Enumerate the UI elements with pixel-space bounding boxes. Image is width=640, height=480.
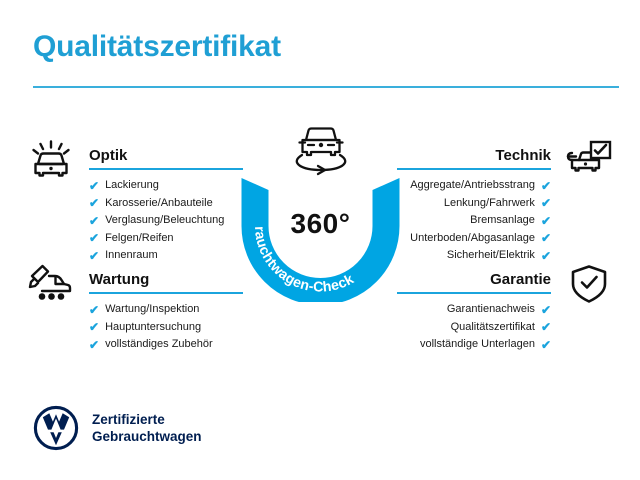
- list-item-label: Innenraum: [105, 247, 158, 265]
- check-icon: ✔: [89, 180, 99, 192]
- list-item-label: Unterboden/Abgasanlage: [410, 230, 535, 248]
- header-divider: [33, 86, 619, 88]
- section-technik-title: Technik: [495, 147, 551, 164]
- list-item-label: Felgen/Reifen: [105, 230, 174, 248]
- check-icon: ✔: [89, 215, 99, 227]
- check-icon: ✔: [541, 197, 551, 209]
- check-icon: ✔: [541, 321, 551, 333]
- check-icon: ✔: [89, 304, 99, 316]
- list-item-label: Qualitätszertifikat: [451, 319, 535, 337]
- section-optik: Optik ✔Lackierung ✔Karosserie/Anbauteile…: [25, 140, 243, 265]
- section-technik-header: Technik: [397, 140, 615, 170]
- section-optik-header: Optik: [25, 140, 243, 170]
- list-item-label: Garantienachweis: [447, 301, 535, 319]
- section-garantie-header: Garantie: [397, 264, 615, 294]
- section-optik-title: Optik: [89, 147, 127, 164]
- list-item: Bremsanlage✔: [397, 212, 615, 230]
- check-icon: ✔: [89, 197, 99, 209]
- section-garantie-list: Garantienachweis✔ Qualitätszertifikat✔ v…: [397, 301, 615, 354]
- list-item: ✔Felgen/Reifen: [25, 230, 243, 248]
- list-item-label: Verglasung/Beleuchtung: [105, 212, 224, 230]
- section-garantie-divider: [397, 292, 551, 294]
- list-item-label: Karosserie/Anbauteile: [105, 195, 213, 213]
- logo-text-line-1: Zertifizierte: [92, 411, 202, 428]
- check-icon: ✔: [541, 232, 551, 244]
- section-optik-divider: [89, 168, 243, 170]
- list-item-label: Wartung/Inspektion: [105, 301, 199, 319]
- check-icon: ✔: [541, 180, 551, 192]
- volkswagen-logo-lockup: Zertifizierte Gebrauchtwagen: [33, 405, 202, 451]
- section-garantie-title: Garantie: [490, 271, 551, 288]
- section-optik-list: ✔Lackierung ✔Karosserie/Anbauteile ✔Verg…: [25, 177, 243, 265]
- list-item: ✔vollständiges Zubehör: [25, 336, 243, 354]
- section-garantie: Garantie Garantienachweis✔ Qualitätszert…: [397, 264, 615, 354]
- 360-gebrauchtwagen-check-badge: Gebrauchtwagen-Check 360°: [233, 122, 408, 302]
- list-item-label: Lackierung: [105, 177, 159, 195]
- check-icon: ✔: [89, 321, 99, 333]
- check-icon: ✔: [541, 339, 551, 351]
- check-icon: ✔: [89, 250, 99, 262]
- list-item: ✔Karosserie/Anbauteile: [25, 195, 243, 213]
- section-technik: Technik Aggregate/Antriebsstrang✔ Lenkun…: [397, 140, 615, 265]
- check-icon: ✔: [541, 215, 551, 227]
- volkswagen-logo: [33, 405, 79, 451]
- qualitaetszertifikat-page: Qualitätszertifikat Op: [0, 0, 640, 480]
- list-item: ✔Hauptuntersuchung: [25, 319, 243, 337]
- volkswagen-logo-text: Zertifizierte Gebrauchtwagen: [92, 411, 202, 445]
- list-item: Sicherheit/Elektrik✔: [397, 247, 615, 265]
- section-wartung-list: ✔Wartung/Inspektion ✔Hauptuntersuchung ✔…: [25, 301, 243, 354]
- section-wartung: Wartung ✔Wartung/Inspektion ✔Hauptunters…: [25, 264, 243, 354]
- section-wartung-divider: [89, 292, 243, 294]
- check-icon: ✔: [89, 339, 99, 351]
- list-item-label: Lenkung/Fahrwerk: [444, 195, 535, 213]
- list-item-label: vollständiges Zubehör: [105, 336, 213, 354]
- check-icon: ✔: [89, 232, 99, 244]
- badge-center-label: 360°: [233, 208, 408, 240]
- page-title: Qualitätszertifikat: [33, 30, 281, 64]
- check-icon: ✔: [541, 304, 551, 316]
- list-item: Qualitätszertifikat✔: [397, 319, 615, 337]
- section-technik-divider: [397, 168, 551, 170]
- list-item-label: Hauptuntersuchung: [105, 319, 201, 337]
- list-item: vollständige Unterlagen✔: [397, 336, 615, 354]
- list-item: Lenkung/Fahrwerk✔: [397, 195, 615, 213]
- list-item: Unterboden/Abgasanlage✔: [397, 230, 615, 248]
- list-item-label: Bremsanlage: [470, 212, 535, 230]
- list-item-label: Sicherheit/Elektrik: [447, 247, 535, 265]
- check-icon: ✔: [541, 250, 551, 262]
- list-item-label: vollständige Unterlagen: [420, 336, 535, 354]
- list-item: ✔Verglasung/Beleuchtung: [25, 212, 243, 230]
- section-wartung-header: Wartung: [25, 264, 243, 294]
- section-wartung-title: Wartung: [89, 271, 149, 288]
- list-item: ✔Innenraum: [25, 247, 243, 265]
- section-technik-list: Aggregate/Antriebsstrang✔ Lenkung/Fahrwe…: [397, 177, 615, 265]
- list-item-label: Aggregate/Antriebsstrang: [410, 177, 535, 195]
- logo-text-line-2: Gebrauchtwagen: [92, 428, 202, 445]
